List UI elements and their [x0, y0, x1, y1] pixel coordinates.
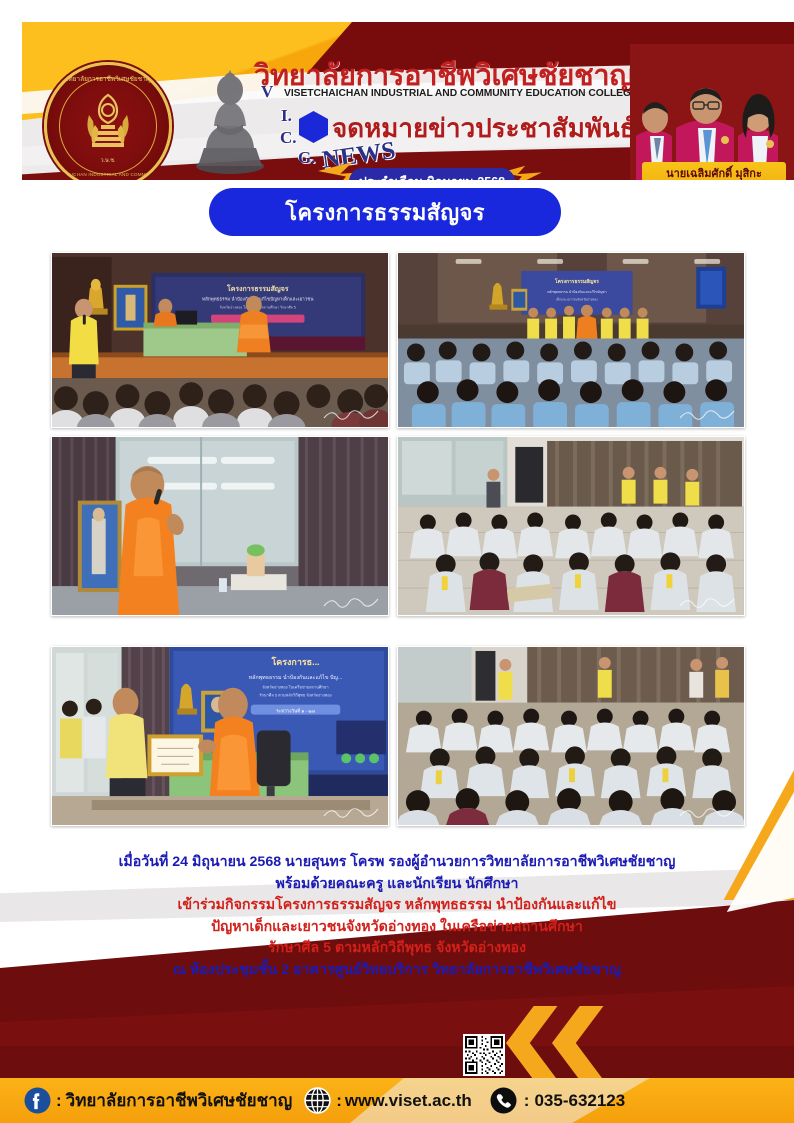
seal-emblem-icon — [77, 91, 139, 157]
photographer-watermark — [320, 593, 382, 611]
poster-header: วิทยาลัยการอาชีพวิเศษชัยชาญ ว.ษ.ช. VISET… — [0, 22, 794, 180]
photo-item-1[interactable]: โครงการธรรมสัญจร หลักพุทธธรรม นำป้องกันแ… — [51, 252, 389, 428]
photo-6-image — [398, 647, 744, 826]
photo-item-5[interactable]: โครงการธ... หลักพุทธธรรม นำป้องกันและแก้… — [51, 646, 389, 826]
footer-facebook[interactable]: : วิทยาลัยการอาชีพวิเศษชัยชาญ — [24, 1087, 292, 1114]
body-line-3: เข้าร่วมกิจกรรมโครงการธรรมสัญจร หลักพุทธ… — [0, 895, 794, 917]
director-name-badge: นายเฉลิมศักดิ์ มุสิกะ ผู้อำนวยการวิทยาลั… — [642, 162, 786, 180]
watermark-letter-c: C. — [280, 128, 297, 148]
watermark-letter-i: I. — [281, 106, 292, 126]
phone-icon — [490, 1087, 517, 1114]
watermark-letter-g: G. — [298, 148, 315, 168]
facebook-page-name: วิทยาลัยการอาชีพวิเศษชัยชาญ — [66, 1087, 293, 1114]
photographer-watermark — [320, 405, 382, 423]
article-body-text: เมื่อวันที่ 24 มิถุนายน 2568 นายสุนทร โค… — [0, 852, 794, 992]
photographer-watermark — [676, 405, 738, 423]
photo-item-3[interactable] — [51, 436, 389, 616]
date-badge: ประจำเดือน มิถุนายน 2568 — [349, 168, 515, 180]
body-line-4: ปัญหาเด็กและเยาวชนจังหวัดอ่างทอง ในเครือ… — [0, 917, 794, 939]
footer-website[interactable]: : www.viset.ac.th — [304, 1087, 472, 1114]
college-seal-logo: วิทยาลัยการอาชีพวิเศษชัยชาญ ว.ษ.ช. VISET… — [44, 62, 172, 180]
photographer-watermark — [320, 803, 382, 821]
photo-gallery: โครงการธรรมสัญจร หลักพุทธธรรม นำป้องกันแ… — [0, 246, 794, 850]
phone-number: 035-632123 — [534, 1091, 625, 1111]
body-line-2: พร้อมด้วยคณะครู และนักเรียน นักศึกษา — [0, 874, 794, 896]
photo-1-image: โครงการธรรมสัญจร หลักพุทธธรรม นำป้องกันแ… — [52, 253, 388, 428]
college-name-english: VISETCHAICHAN INDUSTRIAL AND COMMUNITY E… — [284, 88, 638, 99]
poster-page: วิทยาลัยการอาชีพวิเศษชัยชาญ ว.ษ.ช. VISET… — [0, 0, 794, 1123]
photo-5-image: โครงการธ... หลักพุทธธรรม นำป้องกันและแก้… — [52, 647, 388, 826]
seal-bottom-text: VISETCHAICHAN INDUSTRIAL AND COMMUNITY E… — [47, 172, 169, 177]
body-line-5: รักษาศีล 5 ตามหลักวิถีพุทธ จังหวัดอ่างทอ… — [0, 938, 794, 960]
qr-code[interactable] — [463, 1034, 505, 1076]
qr-code-image — [465, 1036, 503, 1074]
seal-top-text: วิทยาลัยการอาชีพวิเศษชัยชาญ — [47, 74, 169, 84]
svg-text:โครงการธ...: โครงการธ... — [270, 656, 319, 667]
svg-text:ระหว่างวันที่ ๑ - ๒๗: ระหว่างวันที่ ๑ - ๒๗ — [276, 708, 315, 714]
svg-text:หลักพุทธธรรม นำป้องกันและแก้ไข: หลักพุทธธรรม นำป้องกันและแก้ไข ปัญ... — [249, 673, 343, 681]
facebook-icon — [24, 1087, 51, 1114]
photo-3-image — [52, 437, 388, 616]
photographer-watermark — [676, 803, 738, 821]
body-line-1: เมื่อวันที่ 24 มิถุนายน 2568 นายสุนทร โค… — [0, 852, 794, 874]
globe-icon — [304, 1087, 331, 1114]
director-team-photo: นายเฉลิมศักดิ์ มุสิกะ ผู้อำนวยการวิทยาลั… — [630, 44, 794, 180]
newsletter-title-thai: จดหมายข่าวประชาสัมพันธ์ — [332, 108, 636, 149]
website-separator: : — [336, 1091, 342, 1111]
project-title-banner: โครงการธรรมสัญจร — [209, 188, 561, 236]
footer-contact-bar: : วิทยาลัยการอาชีพวิเศษชัยชาญ : www.vise… — [0, 1078, 794, 1123]
svg-text:จังหวัดอ่างทอง ในเครือข่ายสถาน: จังหวัดอ่างทอง ในเครือข่ายสถานศึกษา — [262, 685, 328, 690]
photo-2-image: โครงการธรรมสัญจร หลักพุทธธรรม นำป้องกันแ… — [398, 253, 744, 428]
seal-mid-text: ว.ษ.ช. — [47, 157, 169, 165]
website-url: www.viset.ac.th — [345, 1091, 472, 1111]
body-line-6: ณ ห้องประชุมชั้น 2 อาคารศูนย์วิทยบริการ … — [0, 960, 794, 982]
photo-item-2[interactable]: โครงการธรรมสัญจร หลักพุทธธรรม นำป้องกันแ… — [397, 252, 745, 428]
svg-text:โครงการธรรมสัญจร: โครงการธรรมสัญจร — [554, 278, 599, 285]
photographer-watermark — [676, 593, 738, 611]
photo-4-image — [398, 437, 744, 616]
photo-item-4[interactable] — [397, 436, 745, 616]
phone-separator: : — [524, 1091, 530, 1111]
footer-phone[interactable]: : 035-632123 — [490, 1087, 625, 1114]
facebook-separator: : — [56, 1091, 62, 1111]
photo-item-6[interactable] — [397, 646, 745, 826]
director-name: นายเฉลิมศักดิ์ มุสิกะ — [666, 164, 762, 181]
team-photo-illustration — [630, 44, 794, 180]
svg-text:โครงการธรรมสัญจร: โครงการธรรมสัญจร — [226, 284, 289, 293]
